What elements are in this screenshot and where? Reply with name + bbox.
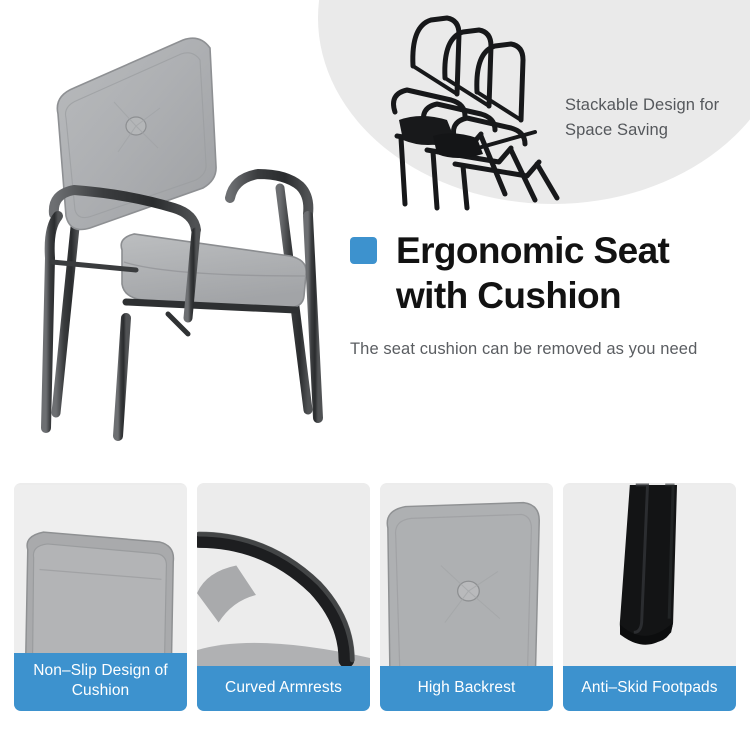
stackable-caption: Stackable Design for Space Saving	[565, 93, 745, 143]
page-title: Ergonomic Seat with Cushion	[396, 228, 745, 318]
feature-card-label: High Backrest	[380, 666, 553, 711]
feature-card-anti-skid-footpads[interactable]: Anti–Skid Footpads	[563, 483, 736, 711]
hero-section: Stackable Design for Space Saving Ergono…	[0, 0, 750, 470]
feature-card-label: Non–Slip Design of Cushion	[14, 653, 187, 711]
feature-card-row: Non–Slip Design of Cushion Curved Armres…	[14, 483, 736, 711]
feature-card-label: Curved Armrests	[197, 666, 370, 711]
feature-card-curved-armrests[interactable]: Curved Armrests	[197, 483, 370, 711]
headline-block: Ergonomic Seat with Cushion The seat cus…	[350, 228, 745, 362]
main-chair-photo	[18, 18, 348, 443]
page-subtitle: The seat cushion can be removed as you n…	[350, 337, 745, 362]
feature-card-label: Anti–Skid Footpads	[563, 666, 736, 711]
blue-square-bullet-icon	[350, 237, 377, 264]
feature-card-high-backrest[interactable]: High Backrest	[380, 483, 553, 711]
feature-card-non-slip-cushion[interactable]: Non–Slip Design of Cushion	[14, 483, 187, 711]
stacked-chairs-photo	[385, 8, 570, 213]
